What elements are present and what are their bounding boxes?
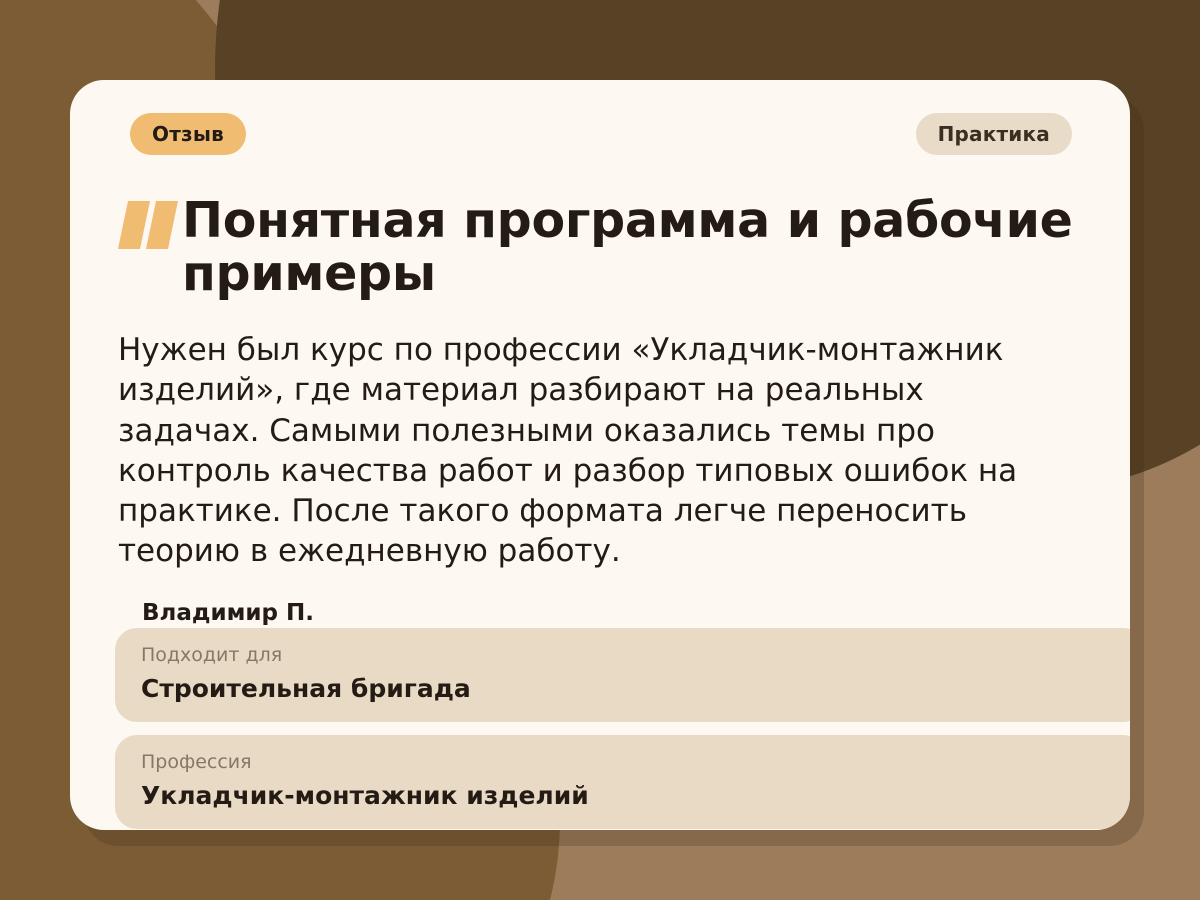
headline-row: Понятная программа и рабочие примеры [118,195,1080,301]
meta-row-audience: Подходит для Строительная бригада [115,628,1130,722]
review-body: Нужен был курс по профессии «Укладчик-мо… [118,330,1018,572]
badge-format[interactable]: Практика [916,113,1072,155]
author-name: Владимир П. [142,600,314,626]
page-title: Понятная программа и рабочие примеры [182,195,1080,301]
meta-value-audience: Строительная бригада [141,674,1119,704]
meta-label-profession: Профессия [141,751,1119,774]
badge-type[interactable]: Отзыв [130,113,246,155]
meta-value-profession: Укладчик-монтажник изделий [141,781,1119,811]
meta-row-profession: Профессия Укладчик-монтажник изделий [115,735,1130,829]
slide-canvas: Отзыв Практика Понятная программа и рабо… [0,0,1200,900]
testimonial-card: Отзыв Практика Понятная программа и рабо… [70,80,1130,830]
meta-label-audience: Подходит для [141,644,1119,667]
quote-mark-icon [118,201,182,259]
